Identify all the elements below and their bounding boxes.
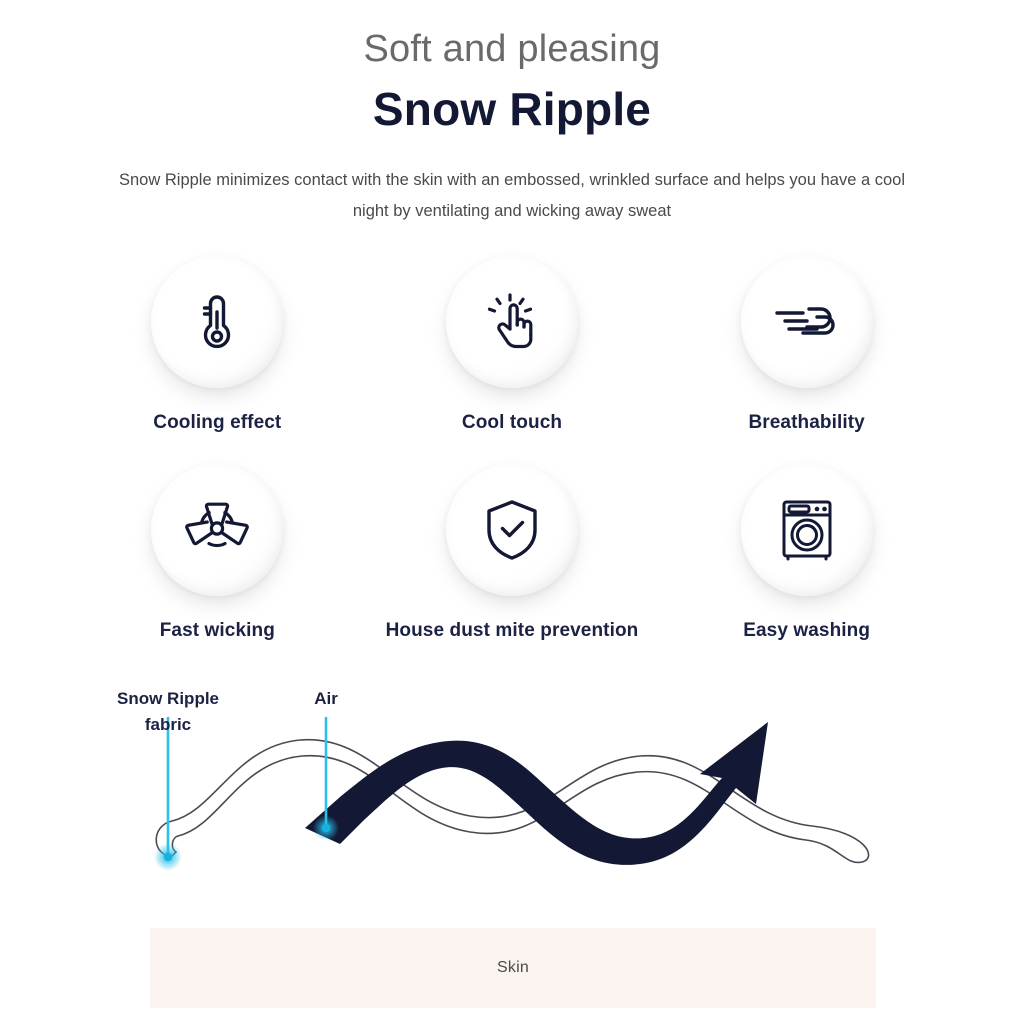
feature-icon-bubble [446,256,578,388]
callout-label-snow-ripple-fabric: Snow Ripple fabric [108,686,228,737]
page-title: Snow Ripple [0,80,1024,140]
washing-machine-icon [777,498,837,562]
feature-item-easy-washing: Easy washing [659,464,954,642]
feature-label: House dust mite prevention [386,620,639,642]
feature-item-fast-wicking: Fast wicking [70,464,365,642]
skin-layer-bar: Skin [150,928,876,1008]
fabric-airflow-diagram: Snow Ripple fabric Air [0,676,1024,911]
feature-icon-bubble [741,256,873,388]
feature-label: Cooling effect [153,412,281,434]
feature-item-cooling-effect: Cooling effect [70,256,365,434]
thermometer-icon [189,292,245,352]
eyebrow-text: Soft and pleasing [0,26,1024,74]
airflow-arrow [305,722,768,865]
feature-icon-bubble [151,464,283,596]
feature-item-breathability: Breathability [659,256,954,434]
feature-label: Cool touch [462,412,562,434]
wind-airflow-icon [773,298,841,346]
fan-propeller-icon [185,500,249,560]
callout-label-air: Air [280,686,372,712]
description-text: Snow Ripple minimizes contact with the s… [117,165,907,226]
skin-label: Skin [497,959,529,977]
feature-icon-bubble [446,464,578,596]
tapping-hand-icon [481,291,543,353]
feature-label: Fast wicking [160,620,275,642]
callout-leader-lines [168,718,326,856]
feature-label: Easy washing [743,620,870,642]
feature-item-cool-touch: Cool touch [365,256,660,434]
feature-item-dust-mite-prevention: House dust mite prevention [365,464,660,642]
feature-icon-bubble [741,464,873,596]
header: Soft and pleasing Snow Ripple Snow Rippl… [0,0,1024,226]
feature-icon-bubble [151,256,283,388]
feature-grid: Cooling effect [0,256,1024,642]
feature-label: Breathability [748,412,864,434]
shield-check-icon [483,498,541,562]
infographic-page: Soft and pleasing Snow Ripple Snow Rippl… [0,0,1024,1024]
